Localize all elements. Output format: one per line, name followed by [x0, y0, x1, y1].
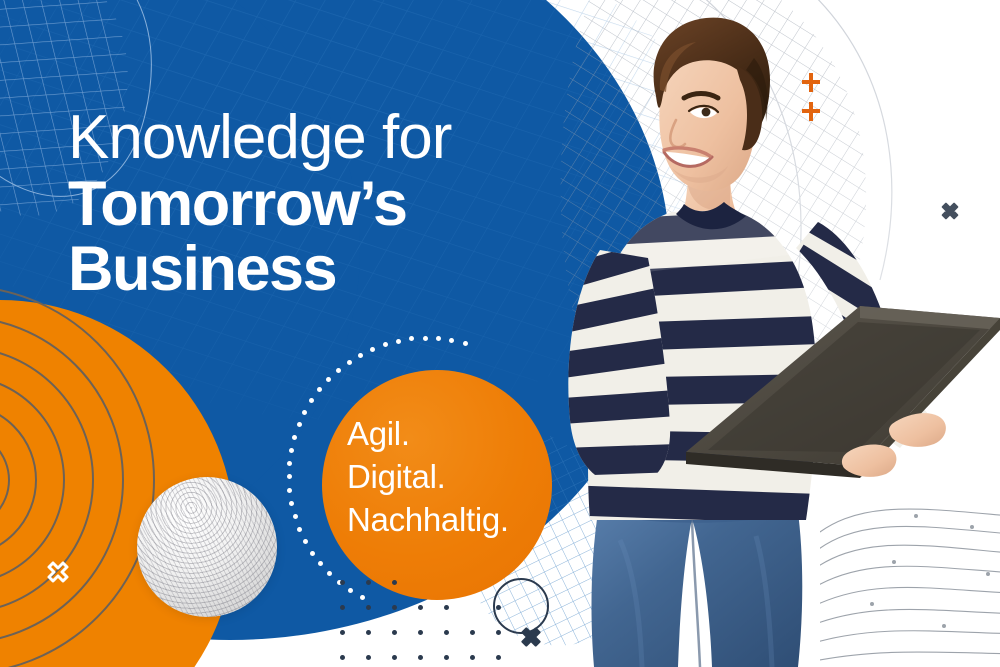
headline-line-1: Knowledge for	[68, 108, 588, 168]
mesh-sphere	[137, 477, 277, 617]
headline-line-2: Tomorrow’s	[68, 174, 588, 235]
tagline-line-3: Nachhaltig.	[347, 499, 557, 542]
x-icon	[516, 622, 546, 652]
headline-line-3: Business	[68, 239, 588, 300]
tagline: Agil. Digital. Nachhaltig.	[347, 413, 557, 542]
tagline-line-1: Agil.	[347, 413, 557, 456]
orange-corner-shape	[0, 300, 235, 667]
x-icon	[42, 556, 74, 588]
head	[654, 18, 770, 191]
marketing-banner: Knowledge for Tomorrow’s Business Agil. …	[0, 0, 1000, 667]
person-with-laptop	[560, 0, 1000, 667]
concentric-rings	[0, 270, 170, 667]
tagline-line-2: Digital.	[347, 456, 557, 499]
jeans	[592, 496, 803, 667]
headline: Knowledge for Tomorrow’s Business	[68, 108, 588, 300]
dot-grid	[340, 580, 540, 667]
thin-outline-circle	[493, 578, 549, 634]
